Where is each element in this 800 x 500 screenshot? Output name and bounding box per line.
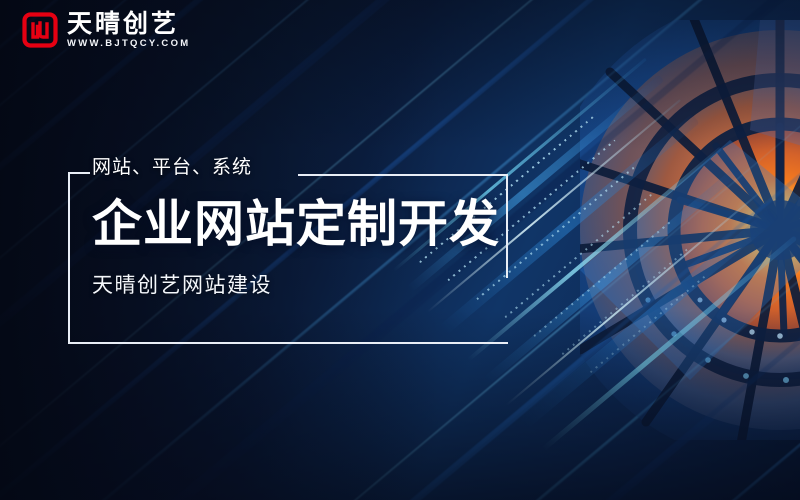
logo-text-block: 天晴创艺 WWW.BJTQCY.COM [67,12,191,49]
frame-line-bottom [68,342,508,344]
headline-block: 网站、平台、系统 企业网站定制开发 天晴创艺网站建设 [92,158,522,296]
tianqing-chuangyi-logo-mark-icon [22,12,58,48]
logo-brand-name: 天晴创艺 [67,12,191,37]
logo-website-url: WWW.BJTQCY.COM [67,39,191,49]
frame-line-left [68,172,70,344]
eyebrow-text: 网站、平台、系统 [92,158,522,177]
subline-text: 天晴创艺网站建设 [92,275,522,296]
promo-banner: 天晴创艺 WWW.BJTQCY.COM 网站、平台、系统 企业网站定制开发 天晴… [0,0,800,500]
frame-line-top-left-stub [68,172,90,174]
brand-logo[interactable]: 天晴创艺 WWW.BJTQCY.COM [22,12,191,49]
headline-text: 企业网站定制开发 [92,199,522,249]
